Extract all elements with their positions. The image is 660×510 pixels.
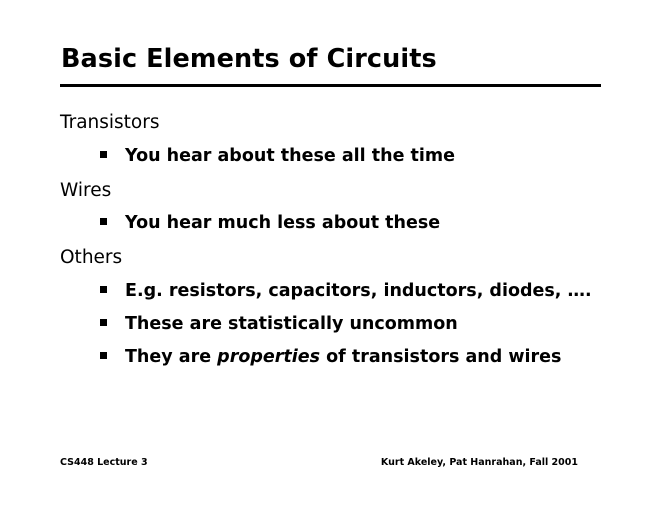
slide: Basic Elements of Circuits TransistorsYo… — [0, 0, 660, 510]
outline-heading: Others — [60, 247, 122, 268]
outline-bullet-label: You hear much less about these — [125, 213, 440, 233]
square-bullet-icon — [100, 151, 107, 158]
outline-bullet-label: They are properties of transistors and w… — [125, 347, 561, 367]
outline-bullet-item: You hear about these all the time — [100, 146, 455, 166]
outline-heading: Wires — [60, 180, 111, 201]
title-divider — [60, 84, 601, 87]
footer-lecture-label: CS448 Lecture 3 — [60, 457, 148, 468]
square-bullet-icon — [100, 319, 107, 326]
emphasized-word: properties — [217, 347, 320, 367]
outline-bullet-item: They are properties of transistors and w… — [100, 347, 561, 367]
outline-bullet-label: These are statistically uncommon — [125, 314, 458, 334]
square-bullet-icon — [100, 286, 107, 293]
outline-bullet-item: You hear much less about these — [100, 213, 440, 233]
outline-heading: Transistors — [60, 112, 159, 133]
outline-bullet-label: You hear about these all the time — [125, 146, 455, 166]
outline-bullet-label: E.g. resistors, capacitors, inductors, d… — [125, 281, 592, 301]
footer-authors-label: Kurt Akeley, Pat Hanrahan, Fall 2001 — [381, 457, 578, 468]
page-title: Basic Elements of Circuits — [61, 44, 437, 74]
square-bullet-icon — [100, 352, 107, 359]
outline-bullet-item: E.g. resistors, capacitors, inductors, d… — [100, 281, 592, 301]
square-bullet-icon — [100, 218, 107, 225]
outline-bullet-item: These are statistically uncommon — [100, 314, 458, 334]
